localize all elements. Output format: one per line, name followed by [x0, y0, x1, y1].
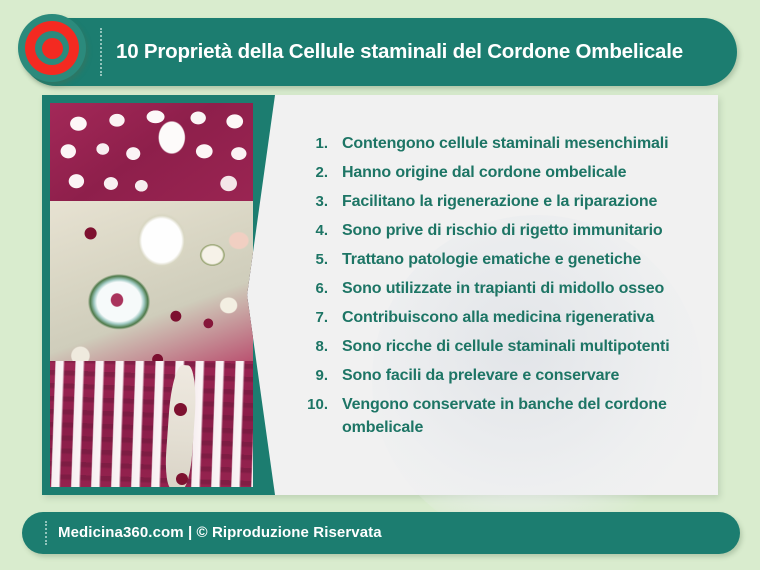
- list-item-label: Contengono cellule staminali mesenchimal…: [342, 132, 668, 155]
- list-item-number: 1.: [296, 132, 330, 155]
- list-item-number: 5.: [296, 248, 330, 271]
- list-item-label: Contribuiscono alla medicina rigenerativ…: [342, 306, 654, 329]
- list-item-number: 9.: [296, 364, 330, 387]
- list-item-label: Trattano patologie ematiche e genetiche: [342, 248, 641, 271]
- image-frame: [42, 95, 275, 495]
- list-item-number: 4.: [296, 219, 330, 242]
- list-item-label: Hanno origine dal cordone ombelicale: [342, 161, 626, 184]
- list-item: 10. Vengono conservate in banche del cor…: [296, 393, 716, 439]
- microscopy-nucleus-lower: [176, 473, 188, 485]
- list-item-label: Facilitano la rigenerazione e la riparaz…: [342, 190, 657, 213]
- list-item-number: 3.: [296, 190, 330, 213]
- microscopy-nucleus-upper: [174, 403, 187, 416]
- list-item: 6. Sono utilizzate in trapianti di midol…: [296, 277, 716, 300]
- list-item-number: 10.: [296, 393, 330, 416]
- page-title: 10 Proprietà della Cellule staminali del…: [116, 18, 726, 86]
- list-item: 8. Sono ricche di cellule staminali mult…: [296, 335, 716, 358]
- footer-dotted-divider: [45, 521, 47, 545]
- list-item: 9. Sono facili da prelevare e conservare: [296, 364, 716, 387]
- list-item: 1. Contengono cellule staminali mesenchi…: [296, 132, 716, 155]
- list-item: 7. Contribuiscono alla medicina rigenera…: [296, 306, 716, 329]
- list-item-number: 7.: [296, 306, 330, 329]
- logo-outer-ring: [25, 21, 79, 75]
- list-item: 2. Hanno origine dal cordone ombelicale: [296, 161, 716, 184]
- list-item-label: Sono ricche di cellule staminali multipo…: [342, 335, 670, 358]
- header-dotted-divider: [100, 28, 102, 76]
- properties-list: 1. Contengono cellule staminali mesenchi…: [296, 132, 716, 445]
- site-logo-icon: [18, 14, 86, 82]
- list-item-number: 2.: [296, 161, 330, 184]
- microscopy-vascular-bundle: [50, 201, 253, 381]
- list-item-label: Sono facili da prelevare e conservare: [342, 364, 619, 387]
- list-item: 3. Facilitano la rigenerazione e la ripa…: [296, 190, 716, 213]
- footer-copyright: Medicina360.com | © Riproduzione Riserva…: [58, 512, 382, 554]
- list-item-number: 8.: [296, 335, 330, 358]
- list-item: 4. Sono prive di rischio di rigetto immu…: [296, 219, 716, 242]
- list-item-number: 6.: [296, 277, 330, 300]
- list-item-label: Sono utilizzate in trapianti di midollo …: [342, 277, 664, 300]
- list-item: 5. Trattano patologie ematiche e genetic…: [296, 248, 716, 271]
- logo-inner-dot: [42, 38, 63, 59]
- microscopy-image: [50, 103, 253, 487]
- list-item-label: Sono prive di rischio di rigetto immunit…: [342, 219, 663, 242]
- logo-middle-ring: [35, 31, 69, 65]
- microscopy-lower-tissue: [50, 361, 253, 487]
- list-item-label: Vengono conservate in banche del cordone…: [342, 393, 714, 439]
